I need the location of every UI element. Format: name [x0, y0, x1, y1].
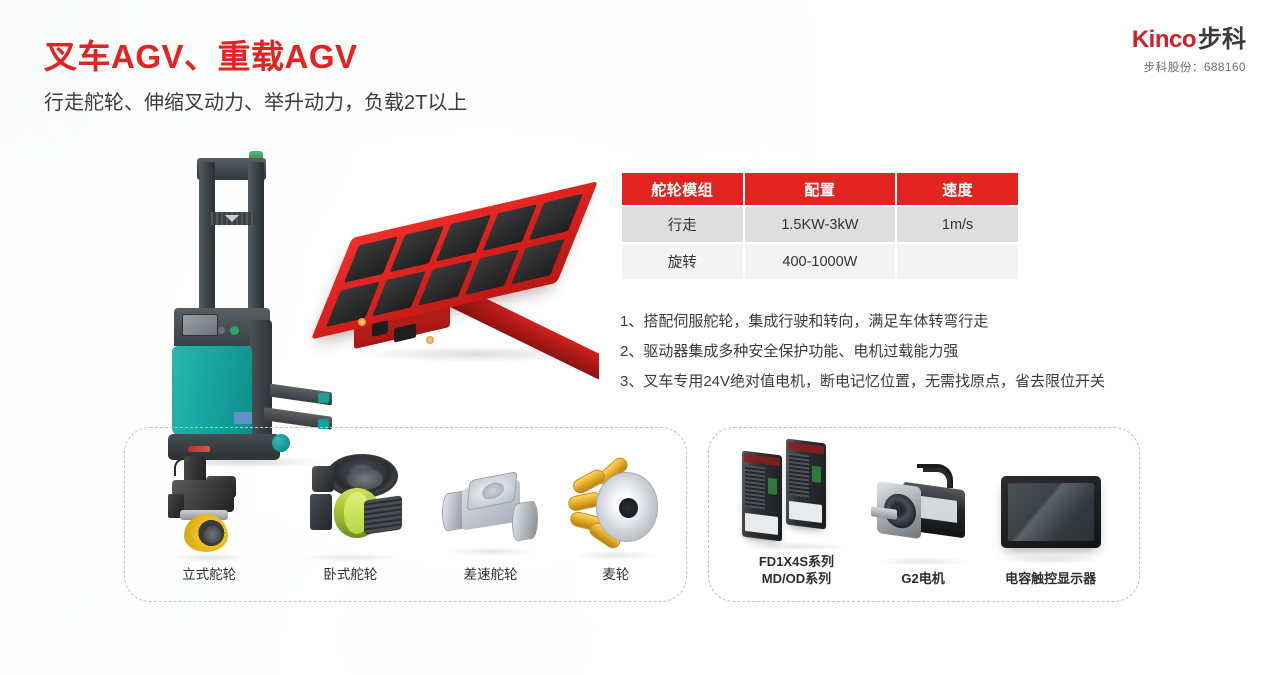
- ground-shadow: [1003, 555, 1098, 564]
- product-item-horizontal-steering-wheel: 卧式舵轮: [279, 454, 421, 583]
- table-cell-speed: 1m/s: [897, 207, 1018, 242]
- product-label: 卧式舵轮: [279, 566, 421, 583]
- drive-terminal-block: [768, 478, 777, 495]
- feature-item: 3、叉车专用24V绝对值电机，断电记忆位置，无需找原点，省去限位开关: [620, 367, 1105, 397]
- chassis-badge: [234, 412, 252, 424]
- touch-panel-hmi-icon: [997, 472, 1105, 556]
- product-item-servo-motor: G2电机: [864, 466, 982, 587]
- spec-table: 舵轮模组 配置 速度 行走 1.5KW-3kW 1m/s 旋转 400-1000…: [620, 171, 1020, 281]
- mast-rail-left: [199, 162, 215, 312]
- differential-steering-wheel-icon: [442, 468, 540, 548]
- drive-nameplate: [745, 513, 778, 535]
- control-button: [218, 327, 225, 334]
- table-cell-module: 行走: [622, 207, 743, 242]
- product-group-steering-wheels: 立式舵轮 卧式舵轮: [124, 427, 687, 602]
- mast-rail-right: [248, 162, 264, 312]
- logo-latin-text: Kinco: [1132, 26, 1196, 53]
- rubber-pad: [511, 238, 565, 284]
- agv-forklift-stacker-image: [152, 150, 332, 400]
- servo-drive-unit: [742, 451, 782, 542]
- logo-wordmark: Kinco步科: [1132, 28, 1246, 52]
- wheel-right: [512, 500, 538, 542]
- wheel-hub: [204, 526, 221, 543]
- rubber-pad: [326, 281, 380, 327]
- rubber-pad: [465, 249, 519, 295]
- motor: [364, 495, 402, 534]
- encoder: [312, 466, 334, 492]
- servo-drive-unit: [786, 439, 826, 530]
- brake-unit: [310, 494, 332, 530]
- ground-shadow: [303, 553, 398, 562]
- vertical-steering-wheel-icon: [166, 454, 252, 554]
- drive-heatsink: [789, 453, 809, 497]
- logo-stock-code: 步科股份：688160: [1132, 59, 1246, 75]
- ground-shadow: [171, 553, 247, 562]
- rubber-pad: [418, 260, 472, 306]
- table-cell-config: 400-1000W: [745, 244, 896, 279]
- operator-display: [182, 314, 218, 336]
- table-header-row: 舵轮模组 配置 速度: [622, 173, 1018, 205]
- drive-terminal-block: [812, 466, 821, 483]
- drive-heatsink: [745, 465, 765, 509]
- platform-indicator-b: [426, 336, 434, 344]
- servo-motor-icon: [871, 466, 975, 558]
- table-row: 行走 1.5KW-3kW 1m/s: [622, 207, 1018, 242]
- product-item-vertical-steering-wheel: 立式舵轮: [139, 454, 279, 583]
- table-cell-config: 1.5KW-3kW: [745, 207, 896, 242]
- power-button: [230, 326, 239, 335]
- feature-item: 2、驱动器集成多种安全保护功能、电机过载能力强: [620, 337, 1105, 367]
- servo-drives-icon: [738, 439, 854, 543]
- page-subtitle: 行走舵轮、伸缩叉动力、举升动力，负载2T以上: [44, 86, 467, 115]
- table-cell-module: 旋转: [622, 244, 743, 279]
- product-item-touch-panel-hmi: 电容触控显示器: [982, 472, 1119, 587]
- table-cell-speed: [897, 244, 1018, 279]
- hmi-screen: [1008, 483, 1094, 541]
- rubber-pad: [390, 226, 444, 272]
- horizontal-steering-wheel-icon: [296, 454, 404, 554]
- product-label: 麦轮: [560, 566, 672, 583]
- table-header-cell: 配置: [745, 173, 896, 205]
- product-label: 电容触控显示器: [982, 570, 1119, 587]
- fork-roller-upper: [318, 393, 329, 403]
- ground-shadow: [575, 551, 656, 560]
- product-item-differential-steering-wheel: 差速舵轮: [421, 468, 559, 583]
- table-header-cell: 速度: [897, 173, 1018, 205]
- feature-item: 1、搭配伺服舵轮，集成行驶和转向，满足车体转弯行走: [620, 307, 1105, 337]
- heavy-load-agv-platform-image: [352, 230, 602, 380]
- table-header-cell: 舵轮模组: [622, 173, 743, 205]
- rubber-pad: [436, 215, 490, 261]
- product-group-electronics: FD1X4S系列 MD/OD系列 G2电机: [708, 427, 1140, 602]
- mecanum-wheel-icon: [570, 466, 662, 552]
- product-label: G2电机: [864, 570, 982, 587]
- logo-chinese-text: 步科: [1198, 26, 1246, 53]
- page-title: 叉车AGV、重载AGV: [44, 30, 358, 78]
- product-label: 差速舵轮: [421, 566, 559, 583]
- table-row: 旋转 400-1000W: [622, 244, 1018, 279]
- ground-shadow: [745, 542, 847, 551]
- drive-top-label: [788, 442, 824, 454]
- rubber-pad: [529, 194, 583, 240]
- ground-shadow: [356, 346, 596, 362]
- brand-logo: Kinco步科 步科股份：688160: [1132, 28, 1246, 75]
- ground-shadow: [447, 547, 533, 556]
- product-item-servo-drives: FD1X4S系列 MD/OD系列: [729, 439, 864, 587]
- mast-crossbar-mid: [208, 212, 256, 225]
- rubber-pad: [483, 204, 537, 250]
- product-item-mecanum-wheel: 麦轮: [560, 466, 672, 583]
- wheel-hub-disc: [596, 472, 658, 542]
- product-label: 立式舵轮: [139, 566, 279, 583]
- product-label: FD1X4S系列 MD/OD系列: [729, 553, 864, 587]
- platform-indicator-a: [358, 318, 366, 326]
- slide-canvas: 叉车AGV、重载AGV 行走舵轮、伸缩叉动力、举升动力，负载2T以上 Kinco…: [0, 0, 1280, 675]
- drive-nameplate: [789, 501, 822, 523]
- ground-shadow: [877, 557, 969, 566]
- drive-top-label: [744, 454, 780, 466]
- rubber-pad: [344, 236, 398, 282]
- rubber-pad: [372, 270, 426, 316]
- feature-list: 1、搭配伺服舵轮，集成行驶和转向，满足车体转弯行走 2、驱动器集成多种安全保护功…: [620, 307, 1105, 397]
